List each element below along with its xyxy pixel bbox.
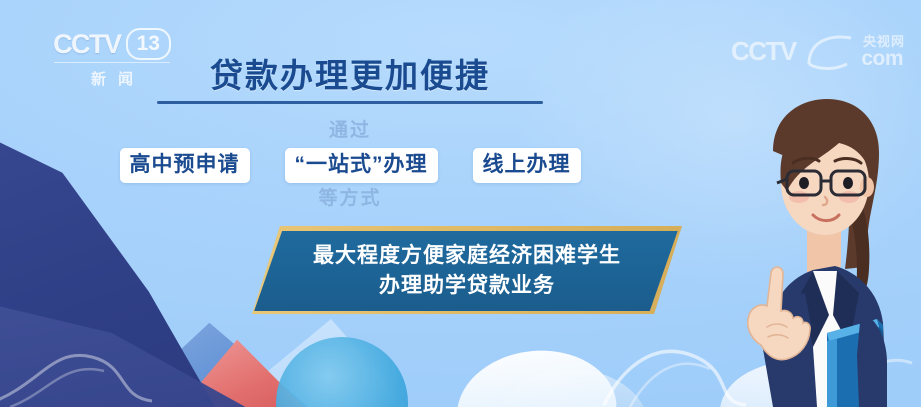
method-tag-1: “一站式”办理 [285, 148, 438, 183]
methods-prefix-label: 通过 [0, 118, 700, 144]
broadcast-graphic-frame: CCTV 13 新闻 CCTV 央视网 com 贷款办理更加便捷 通过 高中预申… [0, 0, 921, 407]
banner-line-1: 最大程度方便家庭经济困难学生 [313, 241, 621, 271]
headline-block: 贷款办理更加便捷 [0, 58, 700, 104]
highlight-banner: 最大程度方便家庭经济困难学生 办理助学贷款业务 [252, 226, 682, 314]
page-title: 贷款办理更加便捷 [0, 58, 700, 94]
banner-line-2: 办理助学贷款业务 [379, 271, 555, 301]
methods-block: 通过 高中预申请 “一站式”办理 线上办理 等方式 [0, 118, 700, 212]
methods-suffix-label: 等方式 [0, 186, 700, 212]
banner-body: 最大程度方便家庭经济困难学生 办理助学贷款业务 [252, 231, 682, 311]
headline-underline [157, 101, 543, 104]
method-tag-2: 线上办理 [473, 148, 581, 183]
method-tag-0: 高中预申请 [120, 148, 250, 183]
methods-tag-row: 高中预申请 “一站式”办理 线上办理 [0, 148, 700, 183]
